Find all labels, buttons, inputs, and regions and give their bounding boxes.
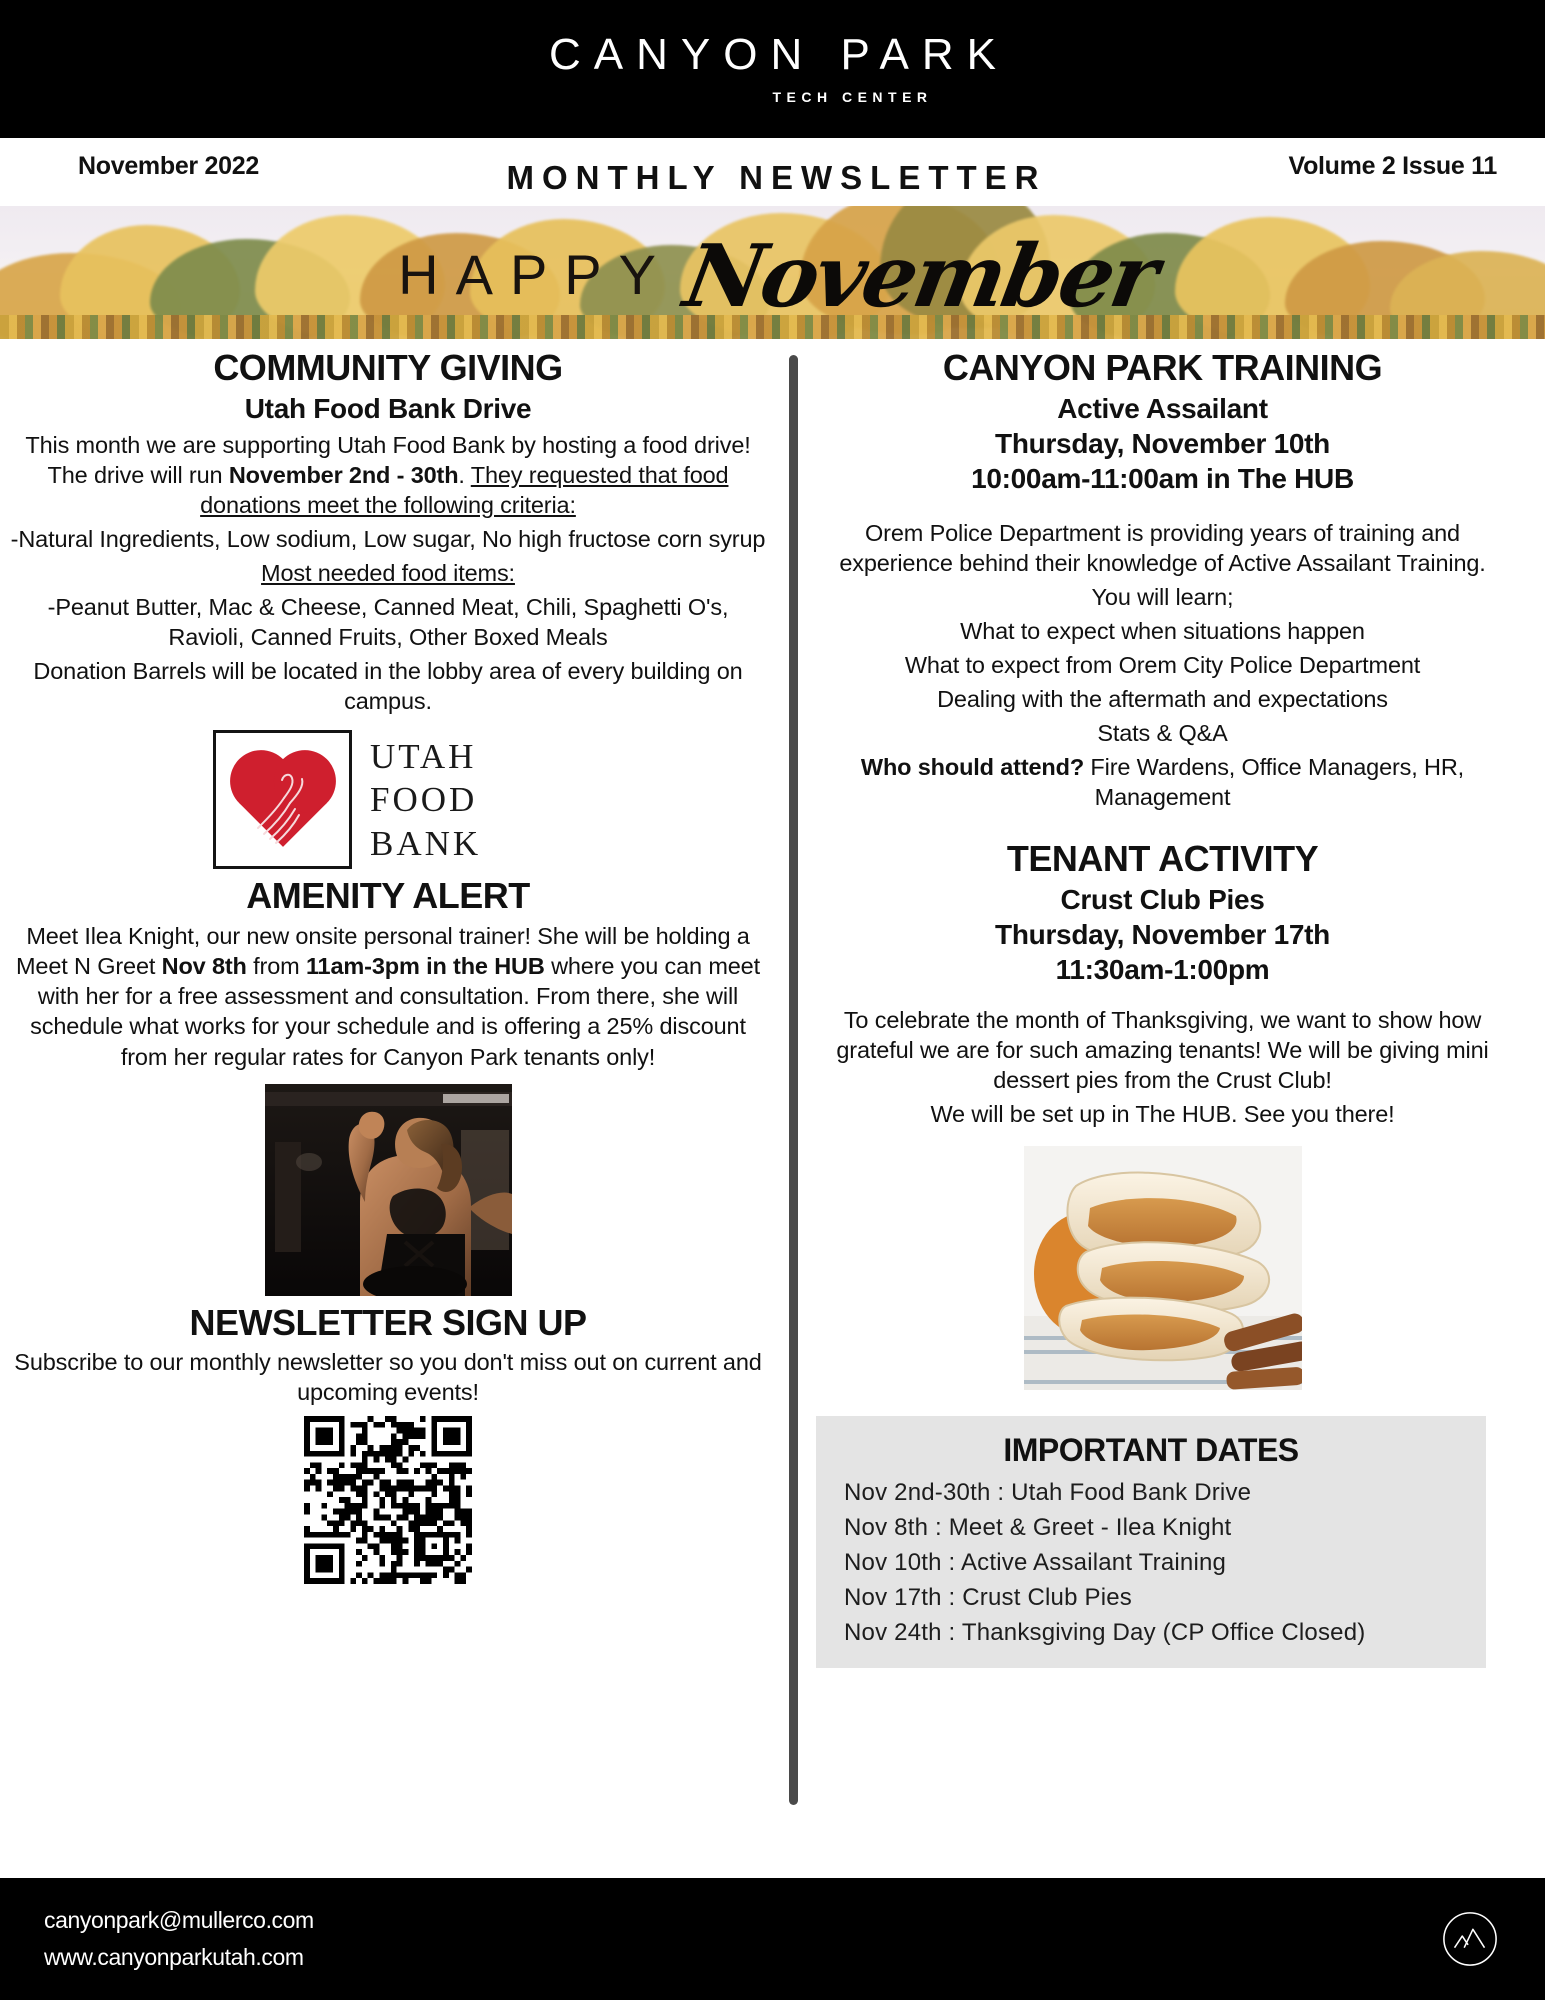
attend-value: Fire Wardens, Office Managers, HR, Manag… bbox=[1084, 754, 1464, 810]
utah-food-bank-logo: UTAH FOOD BANK bbox=[213, 730, 563, 869]
right-column: CANYON PARK TRAINING Active Assailant Th… bbox=[790, 347, 1545, 1668]
list-item: Nov 8th : Meet & Greet - Ilea Knight bbox=[844, 1510, 1486, 1545]
cg-dates-bold: November 2nd - 30th bbox=[229, 462, 459, 488]
tenant-activity-section: TENANT ACTIVITY Crust Club Pies Thursday… bbox=[824, 838, 1501, 1389]
community-giving-paragraph: This month we are supporting Utah Food B… bbox=[8, 430, 768, 520]
most-needed-label: Most needed food items: bbox=[8, 558, 768, 588]
banner-month-word: November bbox=[677, 226, 1163, 327]
personal-trainer-photo bbox=[265, 1084, 512, 1296]
newsletter-signup-body: Subscribe to our monthly newsletter so y… bbox=[8, 1347, 768, 1407]
community-giving-subtitle: Utah Food Bank Drive bbox=[8, 391, 768, 426]
banner-text: HAPPY November bbox=[0, 206, 1545, 339]
community-giving-section: COMMUNITY GIVING Utah Food Bank Drive Th… bbox=[8, 347, 768, 869]
amenity-alert-section: AMENITY ALERT Meet Ilea Knight, our new … bbox=[8, 875, 768, 1295]
masthead: CANYON PARK TECH CENTER bbox=[0, 0, 1545, 138]
footer: canyonpark@mullerco.com www.canyonparkut… bbox=[0, 1878, 1545, 2000]
tenant-activity-date: Thursday, November 17th bbox=[824, 917, 1501, 952]
training-learn-label: You will learn; bbox=[824, 582, 1501, 612]
footer-email[interactable]: canyonpark@mullerco.com bbox=[44, 1902, 314, 1939]
aa-time-bold: 11am-3pm in the HUB bbox=[306, 953, 545, 979]
training-attendees: Who should attend? Fire Wardens, Office … bbox=[824, 752, 1501, 812]
training-time: 10:00am-11:00am in The HUB bbox=[824, 461, 1501, 496]
donation-barrels-note: Donation Barrels will be located in the … bbox=[8, 656, 768, 716]
crust-club-pies-photo bbox=[1024, 1146, 1302, 1390]
newsletter-signup-qr-code[interactable] bbox=[304, 1416, 472, 1584]
aa-text-2: from bbox=[247, 953, 306, 979]
cg-text-2: . bbox=[458, 462, 470, 488]
list-item: Nov 2nd-30th : Utah Food Bank Drive bbox=[844, 1475, 1486, 1510]
training-subtitle: Active Assailant bbox=[824, 391, 1501, 426]
training-learn-item: Stats & Q&A bbox=[824, 718, 1501, 748]
aa-date-bold: Nov 8th bbox=[162, 953, 247, 979]
training-learn-item: Dealing with the aftermath and expectati… bbox=[824, 684, 1501, 714]
amenity-alert-title: AMENITY ALERT bbox=[8, 875, 768, 917]
ufb-line-2: FOOD bbox=[370, 778, 481, 821]
list-item: Nov 17th : Crust Club Pies bbox=[844, 1580, 1486, 1615]
important-dates-list: Nov 2nd-30th : Utah Food Bank Drive Nov … bbox=[816, 1475, 1486, 1650]
issue-volume: Volume 2 Issue 11 bbox=[1289, 152, 1497, 181]
banner-happy-word: HAPPY bbox=[390, 242, 673, 307]
brand-title: CANYON PARK bbox=[536, 33, 1009, 77]
list-item: Nov 24th : Thanksgiving Day (CP Office C… bbox=[844, 1615, 1486, 1650]
newsletter-signup-section: NEWSLETTER SIGN UP Subscribe to our mont… bbox=[8, 1302, 768, 1584]
list-item: Nov 10th : Active Assailant Training bbox=[844, 1545, 1486, 1580]
utah-food-bank-wordmark: UTAH FOOD BANK bbox=[370, 735, 481, 865]
amenity-alert-paragraph: Meet Ilea Knight, our new onsite persona… bbox=[8, 921, 768, 1071]
important-dates-title: IMPORTANT DATES bbox=[816, 1432, 1486, 1469]
community-giving-title: COMMUNITY GIVING bbox=[8, 347, 768, 389]
seasonal-banner: HAPPY November bbox=[0, 206, 1545, 339]
issue-bar: November 2022 MONTHLY NEWSLETTER Volume … bbox=[0, 138, 1545, 206]
brand-subtitle: TECH CENTER bbox=[772, 89, 932, 105]
tenant-activity-body-2: We will be set up in The HUB. See you th… bbox=[824, 1099, 1501, 1129]
column-divider bbox=[789, 355, 798, 1805]
most-needed-items: -Peanut Butter, Mac & Cheese, Canned Mea… bbox=[8, 592, 768, 652]
utah-food-bank-heart-hands-icon bbox=[213, 730, 352, 869]
attend-label: Who should attend? bbox=[861, 754, 1084, 780]
footer-contact: canyonpark@mullerco.com www.canyonparkut… bbox=[44, 1902, 314, 1977]
tenant-activity-subtitle: Crust Club Pies bbox=[824, 882, 1501, 917]
tenant-activity-time: 11:30am-1:00pm bbox=[824, 952, 1501, 987]
training-intro: Orem Police Department is providing year… bbox=[824, 518, 1501, 578]
newsletter-body: COMMUNITY GIVING Utah Food Bank Drive Th… bbox=[0, 339, 1545, 1668]
footer-website[interactable]: www.canyonparkutah.com bbox=[44, 1939, 314, 1976]
trainer-photo-art bbox=[265, 1084, 512, 1296]
heart-shape bbox=[239, 759, 327, 847]
tenant-activity-body-1: To celebrate the month of Thanksgiving, … bbox=[824, 1005, 1501, 1095]
ufb-line-1: UTAH bbox=[370, 735, 481, 778]
canyon-park-training-section: CANYON PARK TRAINING Active Assailant Th… bbox=[824, 347, 1501, 812]
training-learn-item: What to expect when situations happen bbox=[824, 616, 1501, 646]
tenant-activity-title: TENANT ACTIVITY bbox=[824, 838, 1501, 880]
training-date: Thursday, November 10th bbox=[824, 426, 1501, 461]
important-dates-box: IMPORTANT DATES Nov 2nd-30th : Utah Food… bbox=[816, 1416, 1486, 1668]
training-learn-item: What to expect from Orem City Police Dep… bbox=[824, 650, 1501, 680]
newsletter-signup-title: NEWSLETTER SIGN UP bbox=[8, 1302, 768, 1344]
training-title: CANYON PARK TRAINING bbox=[824, 347, 1501, 389]
community-giving-criteria: -Natural Ingredients, Low sodium, Low su… bbox=[8, 524, 768, 554]
ufb-line-3: BANK bbox=[370, 822, 481, 865]
pies-photo-art bbox=[1024, 1146, 1302, 1390]
left-column: COMMUNITY GIVING Utah Food Bank Drive Th… bbox=[0, 347, 790, 1668]
muller-mountain-circle-logo-icon bbox=[1441, 1910, 1499, 1968]
